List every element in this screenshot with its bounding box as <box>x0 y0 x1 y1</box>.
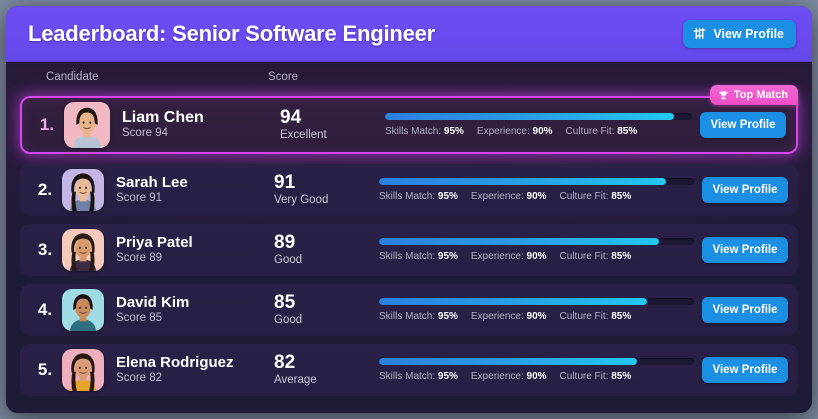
candidate-name: Sarah Lee <box>116 174 274 191</box>
candidate-identity: Priya PatelScore 89 <box>116 234 274 266</box>
metric-culture: Culture Fit: 85% <box>560 311 632 322</box>
metric-skills: Skills Match: 95% <box>379 371 458 382</box>
candidate-name: Liam Chen <box>122 109 280 126</box>
score-progress-fill <box>385 113 674 120</box>
candidate-subtitle: Score 89 <box>116 251 274 266</box>
rank-number: 3. <box>28 240 62 260</box>
metric-line: Skills Match: 95%Experience: 90%Culture … <box>379 191 694 202</box>
metric-experience: Experience: 90% <box>471 311 547 322</box>
avatar <box>62 289 104 331</box>
metric-skills-value: 95% <box>438 191 458 202</box>
app-header: Leaderboard: Senior Software Engineer Vi… <box>6 6 812 62</box>
candidate-identity: Liam ChenScore 94 <box>122 109 280 141</box>
metric-culture: Culture Fit: 85% <box>560 251 632 262</box>
candidate-identity: Sarah LeeScore 91 <box>116 174 274 206</box>
status-badge: Top Match <box>710 85 798 105</box>
trophy-icon <box>718 90 729 101</box>
score-progress-bar <box>379 178 694 185</box>
metric-skills-value: 95% <box>438 311 458 322</box>
metric-culture-value: 85% <box>611 311 631 322</box>
score-rating: Average <box>274 373 379 388</box>
leaderboard-list: Top Match1.Liam ChenScore 9494ExcellentS… <box>6 92 812 413</box>
header-button-label: View Profile <box>713 27 784 41</box>
score-progress-bar <box>385 113 692 120</box>
row-view-profile-button[interactable]: View Profile <box>700 112 786 138</box>
avatar <box>62 229 104 271</box>
leaderboard-row[interactable]: 4.David KimScore 8585GoodSkills Match: 9… <box>20 284 798 336</box>
sliders-icon <box>693 27 706 40</box>
leaderboard-row[interactable]: Top Match1.Liam ChenScore 9494ExcellentS… <box>20 96 798 154</box>
score-block: 89Good <box>274 232 379 268</box>
metrics-block: Skills Match: 95%Experience: 90%Culture … <box>379 298 702 322</box>
score-progress-fill <box>379 298 647 305</box>
leaderboard-row[interactable]: 3.Priya PatelScore 8989GoodSkills Match:… <box>20 224 798 276</box>
metric-skills: Skills Match: 95% <box>379 251 458 262</box>
candidate-identity: David KimScore 85 <box>116 294 274 326</box>
leaderboard-row[interactable]: 2.Sarah LeeScore 9191Very GoodSkills Mat… <box>20 164 798 216</box>
metrics-block: Skills Match: 95%Experience: 90%Culture … <box>379 358 702 382</box>
candidate-subtitle: Score 91 <box>116 191 274 206</box>
score-block: 94Excellent <box>280 107 385 143</box>
metric-experience: Experience: 90% <box>471 251 547 262</box>
metric-skills: Skills Match: 95% <box>385 126 464 137</box>
metric-skills: Skills Match: 95% <box>379 191 458 202</box>
metrics-block: Skills Match: 95%Experience: 90%Culture … <box>379 238 702 262</box>
metric-experience-value: 90% <box>527 251 547 262</box>
metric-experience-value: 90% <box>527 371 547 382</box>
metric-experience: Experience: 90% <box>471 371 547 382</box>
candidate-name: Elena Rodriguez <box>116 354 274 371</box>
metric-experience-value: 90% <box>527 311 547 322</box>
leaderboard-window: Leaderboard: Senior Software Engineer Vi… <box>6 6 812 413</box>
score-rating: Good <box>274 313 379 328</box>
score-progress-fill <box>379 178 666 185</box>
column-header-candidate: Candidate <box>28 71 268 83</box>
rank-number: 1. <box>30 115 64 135</box>
header-view-profile-button[interactable]: View Profile <box>683 20 796 48</box>
row-view-profile-button[interactable]: View Profile <box>702 297 788 323</box>
metric-skills-value: 95% <box>444 126 464 137</box>
rank-number: 5. <box>28 360 62 380</box>
score-rating: Good <box>274 253 379 268</box>
status-badge-label: Top Match <box>734 89 788 101</box>
metrics-block: Skills Match: 95%Experience: 90%Culture … <box>379 178 702 202</box>
score-rating: Excellent <box>280 128 385 143</box>
score-progress-fill <box>379 238 659 245</box>
score-value: 94 <box>280 107 385 128</box>
score-value: 85 <box>274 292 379 313</box>
row-view-profile-button[interactable]: View Profile <box>702 237 788 263</box>
metric-culture-value: 85% <box>617 126 637 137</box>
score-block: 91Very Good <box>274 172 379 208</box>
candidate-subtitle: Score 82 <box>116 371 274 386</box>
metric-culture-value: 85% <box>611 191 631 202</box>
metric-culture-value: 85% <box>611 371 631 382</box>
score-value: 89 <box>274 232 379 253</box>
candidate-subtitle: Score 94 <box>122 126 280 141</box>
candidate-subtitle: Score 85 <box>116 311 274 326</box>
metric-experience: Experience: 90% <box>471 191 547 202</box>
page-title: Leaderboard: Senior Software Engineer <box>28 21 683 47</box>
avatar <box>62 349 104 391</box>
metric-skills-value: 95% <box>438 251 458 262</box>
column-header-score: Score <box>268 71 298 83</box>
metric-culture-value: 85% <box>611 251 631 262</box>
metric-line: Skills Match: 95%Experience: 90%Culture … <box>379 251 694 262</box>
score-rating: Very Good <box>274 193 379 208</box>
score-progress-bar <box>379 238 694 245</box>
row-view-profile-button[interactable]: View Profile <box>702 357 788 383</box>
metrics-block: Skills Match: 95%Experience: 90%Culture … <box>385 113 700 137</box>
metric-culture: Culture Fit: 85% <box>560 371 632 382</box>
leaderboard-row[interactable]: 5.Elena RodriguezScore 8282AverageSkills… <box>20 344 798 396</box>
score-block: 85Good <box>274 292 379 328</box>
avatar <box>62 169 104 211</box>
score-progress-fill <box>379 358 637 365</box>
avatar <box>64 102 110 148</box>
candidate-identity: Elena RodriguezScore 82 <box>116 354 274 386</box>
metric-line: Skills Match: 95%Experience: 90%Culture … <box>379 371 694 382</box>
score-progress-bar <box>379 358 694 365</box>
metric-experience-value: 90% <box>533 126 553 137</box>
metric-skills-value: 95% <box>438 371 458 382</box>
candidate-name: David Kim <box>116 294 274 311</box>
metric-line: Skills Match: 95%Experience: 90%Culture … <box>379 311 694 322</box>
metric-culture: Culture Fit: 85% <box>566 126 638 137</box>
rank-number: 2. <box>28 180 62 200</box>
metric-line: Skills Match: 95%Experience: 90%Culture … <box>385 126 692 137</box>
score-progress-bar <box>379 298 694 305</box>
rank-number: 4. <box>28 300 62 320</box>
column-headers: Candidate Score <box>6 62 812 92</box>
row-view-profile-button[interactable]: View Profile <box>702 177 788 203</box>
metric-skills: Skills Match: 95% <box>379 311 458 322</box>
candidate-name: Priya Patel <box>116 234 274 251</box>
score-value: 82 <box>274 352 379 373</box>
metric-experience-value: 90% <box>527 191 547 202</box>
score-block: 82Average <box>274 352 379 388</box>
score-value: 91 <box>274 172 379 193</box>
metric-culture: Culture Fit: 85% <box>560 191 632 202</box>
metric-experience: Experience: 90% <box>477 126 553 137</box>
